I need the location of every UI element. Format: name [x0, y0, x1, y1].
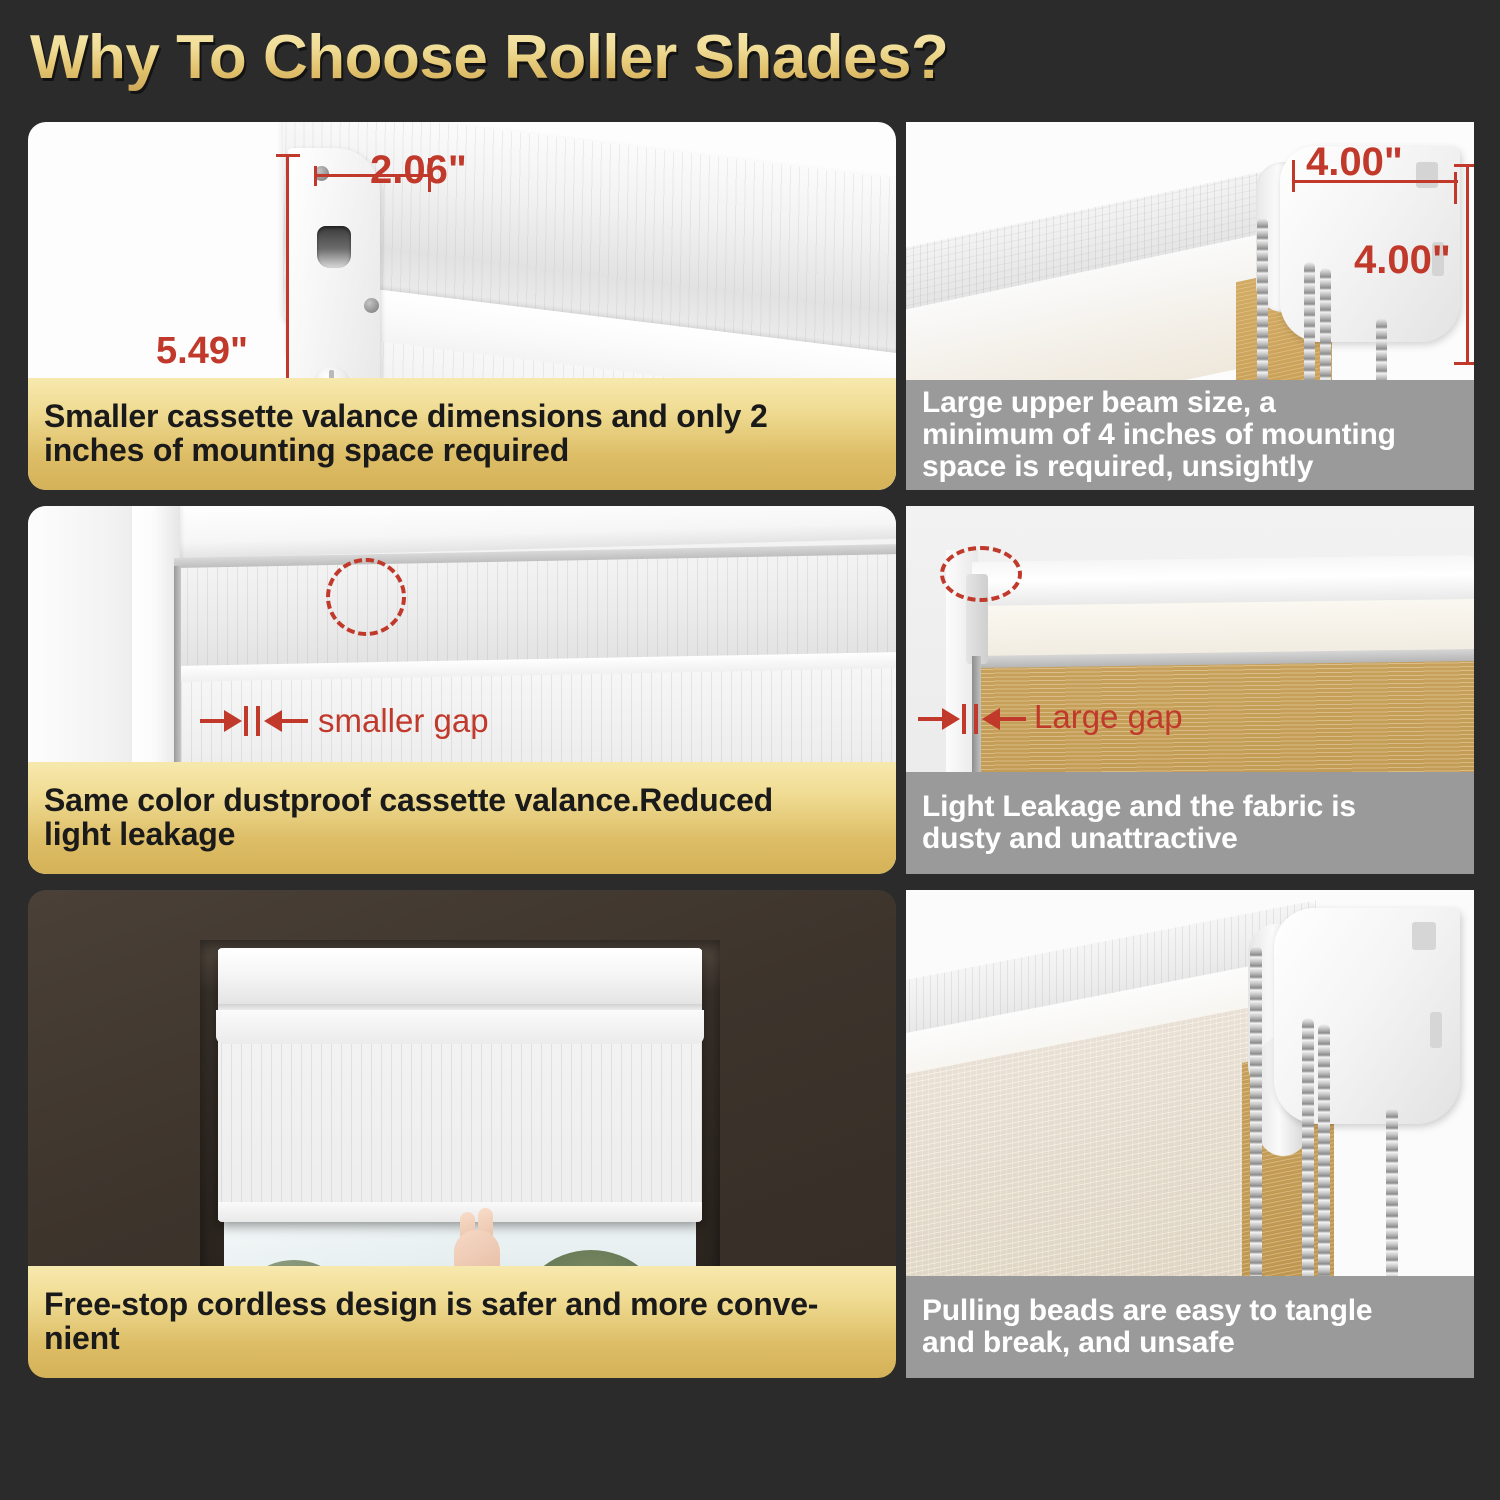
- panel-caption: Light Leakage and the fabric is dusty an…: [906, 772, 1474, 874]
- bead-chain: [1257, 218, 1268, 398]
- dimension-tick-bottom: [1454, 362, 1474, 365]
- dimension-label-height: 5.49": [156, 330, 248, 373]
- shade-upper: [174, 554, 896, 668]
- bead-chain: [1304, 262, 1315, 398]
- dimension-label-width: 2.06": [370, 148, 467, 193]
- dimension-tick-right: [1454, 172, 1457, 204]
- infographic-page: Why To Choose Roller Shades? 5.49" 2.06"…: [0, 0, 1500, 1500]
- gap-label: smaller gap: [318, 702, 489, 740]
- panel-caption: Same color dustproof cassette valance.Re…: [28, 762, 896, 874]
- panel-caption-text: Pulling beads are easy to tangle and bre…: [906, 1295, 1474, 1359]
- dimension-label-height: 4.00": [1354, 238, 1451, 283]
- panel-caption-text: Large upper beam size, a minimum of 4 in…: [906, 387, 1474, 482]
- page-title: Why To Choose Roller Shades?: [30, 22, 1130, 94]
- valance-lip: [216, 1010, 704, 1044]
- panel-caption: Free-stop cordless design is safer and m…: [28, 1266, 896, 1378]
- panel-caption: Pulling beads are easy to tangle and bre…: [906, 1276, 1474, 1378]
- panel-large-upper-beam: 4.00" 4.00" Large upper beam size, a min…: [906, 122, 1474, 490]
- dimension-label-width: 4.00": [1306, 140, 1403, 185]
- panel-caption-text: Light Leakage and the fabric is dusty an…: [906, 791, 1474, 855]
- panel-dustproof-valance: smaller gap Same color dustproof cassett…: [28, 506, 896, 874]
- dimension-tick-top: [1454, 164, 1474, 167]
- panel-pulling-beads: Pulling beads are easy to tangle and bre…: [906, 890, 1474, 1378]
- panel-caption-text: Same color dustproof cassette valance.Re…: [28, 784, 896, 852]
- panel-caption: Smaller cassette valance dimensions and …: [28, 378, 896, 490]
- valance-slot: [317, 226, 351, 268]
- panel-caption-text: Free-stop cordless design is safer and m…: [28, 1288, 896, 1356]
- gap-label: Large gap: [1034, 698, 1183, 736]
- dimension-line-vertical: [1466, 164, 1469, 364]
- panel-cordless-design: Free-stop cordless design is safer and m…: [28, 890, 896, 1378]
- highlight-circle: [326, 558, 406, 636]
- panel-smaller-cassette: 5.49" 2.06" Smaller cassette valance dim…: [28, 122, 896, 490]
- cassette-valance: [218, 948, 702, 1006]
- dimension-tick-left: [1292, 160, 1295, 192]
- panel-light-leakage: Large gap Light Leakage and the fabric i…: [906, 506, 1474, 874]
- screw-icon: [364, 298, 379, 313]
- bead-chain: [1320, 268, 1331, 398]
- highlight-circle: [940, 546, 1022, 602]
- panel-caption-text: Smaller cassette valance dimensions and …: [28, 400, 896, 468]
- dimension-tick-top: [276, 154, 300, 157]
- panel-caption: Large upper beam size, a minimum of 4 in…: [906, 380, 1474, 490]
- dimension-tick-left: [314, 166, 317, 186]
